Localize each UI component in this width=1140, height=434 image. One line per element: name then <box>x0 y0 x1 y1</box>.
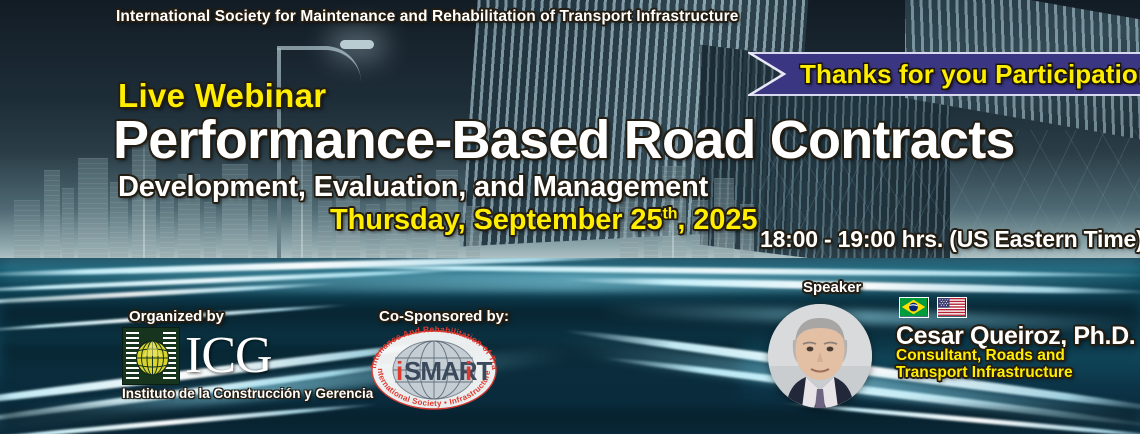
icg-tagline: Instituto de la Construcción y Gerencia <box>122 386 326 401</box>
speaker-flags <box>899 297 967 318</box>
event-time: 18:00 - 19:00 hrs. (US Eastern Time) <box>760 226 1140 253</box>
thanks-ribbon: Thanks for you Participation <box>748 52 1140 96</box>
page-title: Performance-Based Road Contracts <box>113 109 1015 171</box>
event-date-suffix: , 2025 <box>677 204 757 236</box>
icg-logo: ICG Instituto de la Construcción y Geren… <box>122 327 326 403</box>
society-title: International Society for Maintenance an… <box>116 8 738 26</box>
svg-text:i: i <box>465 356 472 386</box>
speaker-role: Consultant, Roads and Transport Infrastr… <box>896 347 1073 382</box>
icg-wordmark: ICG <box>185 332 272 381</box>
organized-by-label: Organized by <box>129 308 224 325</box>
speaker-label: Speaker <box>803 279 861 296</box>
usa-flag-icon <box>937 297 967 318</box>
co-sponsored-by-label: Co-Sponsored by: <box>379 308 509 325</box>
svg-text:i: i <box>396 356 403 386</box>
avatar <box>768 304 872 408</box>
event-date-prefix: Thursday, September 25 <box>330 204 663 236</box>
speaker-role-line2: Transport Infrastructure <box>896 364 1073 381</box>
event-date-ordinal: th <box>663 205 678 222</box>
ismarti-seal-icon: For Maintenance And Rehabilitation of Tr… <box>364 326 504 410</box>
svg-text:SMART: SMART <box>404 356 493 386</box>
street-lamp-light-icon <box>340 40 374 49</box>
event-date: Thursday, September 25th, 2025 <box>330 204 757 237</box>
icg-mark <box>122 327 180 385</box>
brazil-flag-icon <box>899 297 929 318</box>
thanks-ribbon-label: Thanks for you Participation <box>800 59 1140 90</box>
event-subtitle: Development, Evaluation, and Management <box>118 171 708 204</box>
webinar-banner: International Society for Maintenance an… <box>0 0 1140 434</box>
globe-grid-icon <box>134 336 171 377</box>
speaker-role-line1: Consultant, Roads and <box>896 347 1073 364</box>
